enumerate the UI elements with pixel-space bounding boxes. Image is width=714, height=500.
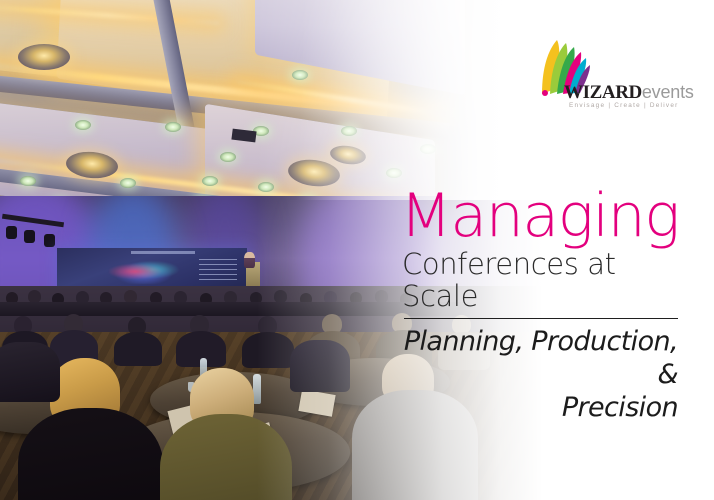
water-bottle bbox=[253, 374, 261, 404]
recessed-spotlight bbox=[292, 70, 308, 80]
recessed-spotlight bbox=[165, 122, 181, 132]
headline-secondary: Conferences at Scale bbox=[402, 248, 680, 313]
recessed-spotlight bbox=[420, 144, 436, 154]
logo-name-primary: WIZARD bbox=[564, 82, 642, 103]
recessed-spotlight bbox=[341, 126, 357, 136]
logo-name-secondary: events bbox=[642, 82, 694, 102]
headline-block: Managing Conferences at Scale Planning, … bbox=[396, 188, 680, 425]
truss-lamp bbox=[24, 230, 35, 243]
event-banner: WIZARDevents Envisage | Create | Deliver… bbox=[0, 0, 714, 500]
logo-wordmark: WIZARDevents bbox=[564, 82, 694, 104]
headline-tertiary-line1: Planning, Production, & bbox=[396, 326, 678, 392]
headline-tertiary-line2: Precision bbox=[396, 392, 678, 425]
attendee-shoulders bbox=[114, 332, 162, 366]
wizard-events-logo[interactable]: WIZARDevents Envisage | Create | Deliver bbox=[536, 38, 686, 110]
headline-divider bbox=[404, 318, 678, 320]
logo-tagline: Envisage | Create | Deliver bbox=[569, 102, 679, 109]
truss-lamp bbox=[6, 226, 17, 239]
headline-primary: Managing bbox=[400, 188, 680, 246]
chair-back bbox=[0, 342, 60, 402]
recessed-spotlight bbox=[75, 120, 91, 130]
truss-lamp bbox=[44, 234, 55, 247]
recessed-spotlight bbox=[386, 168, 402, 178]
foreground-attendee-body bbox=[18, 408, 163, 500]
screen-world-map-graphic bbox=[109, 258, 181, 284]
recessed-spotlight bbox=[258, 182, 274, 192]
recessed-spotlight bbox=[120, 178, 136, 188]
speaker-figure bbox=[244, 252, 255, 268]
recessed-spotlight bbox=[202, 176, 218, 186]
ceiling-light-fixture bbox=[18, 44, 70, 70]
attendee-shoulders bbox=[242, 332, 294, 368]
screen-text-block bbox=[199, 259, 237, 283]
screen-title-bar bbox=[131, 251, 195, 254]
chair-back bbox=[290, 340, 350, 392]
recessed-spotlight bbox=[220, 152, 236, 162]
recessed-spotlight bbox=[20, 176, 36, 186]
